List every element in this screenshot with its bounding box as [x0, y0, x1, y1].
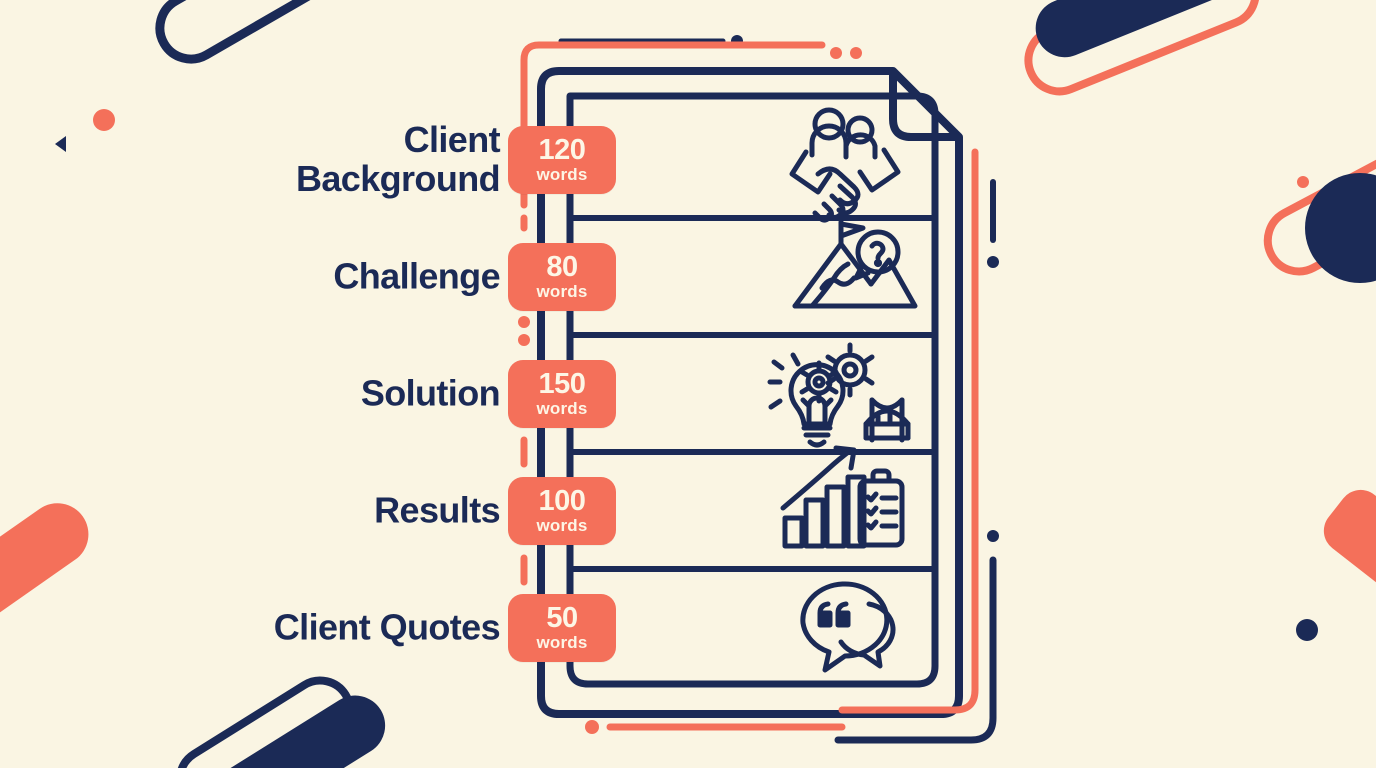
lightbulb-gears-bridge-icon	[770, 345, 908, 445]
speech-bubbles-quote-icon	[803, 584, 893, 670]
label-solution: Solution	[20, 375, 500, 414]
badge-count-solution: 150	[539, 370, 586, 398]
badge-results: 100 words	[508, 477, 616, 545]
badge-unit-client-quotes: words	[536, 633, 587, 653]
label-challenge: Challenge	[20, 258, 500, 297]
mountain-flag-question-icon	[795, 222, 915, 306]
section-labels: Client Background Challenge Solution Res…	[0, 0, 500, 768]
badge-solution: 150 words	[508, 360, 616, 428]
badge-unit-results: words	[536, 516, 587, 536]
handshake-people-icon	[792, 110, 898, 220]
badge-unit-solution: words	[536, 399, 587, 419]
badge-count-results: 100	[539, 487, 586, 515]
badge-count-client-background: 120	[539, 136, 586, 164]
badge-client-quotes: 50 words	[508, 594, 616, 662]
label-results: Results	[20, 492, 500, 531]
badge-count-client-quotes: 50	[546, 604, 577, 632]
badge-count-challenge: 80	[546, 253, 577, 281]
badge-unit-client-background: words	[536, 165, 587, 185]
badge-client-background: 120 words	[508, 126, 616, 194]
bar-chart-clipboard-icon	[783, 448, 902, 546]
label-client-quotes: Client Quotes	[20, 609, 500, 648]
label-client-background: Client Background	[20, 121, 500, 199]
badge-challenge: 80 words	[508, 243, 616, 311]
badge-unit-challenge: words	[536, 282, 587, 302]
infographic-canvas: Client Background Challenge Solution Res…	[0, 0, 1376, 768]
